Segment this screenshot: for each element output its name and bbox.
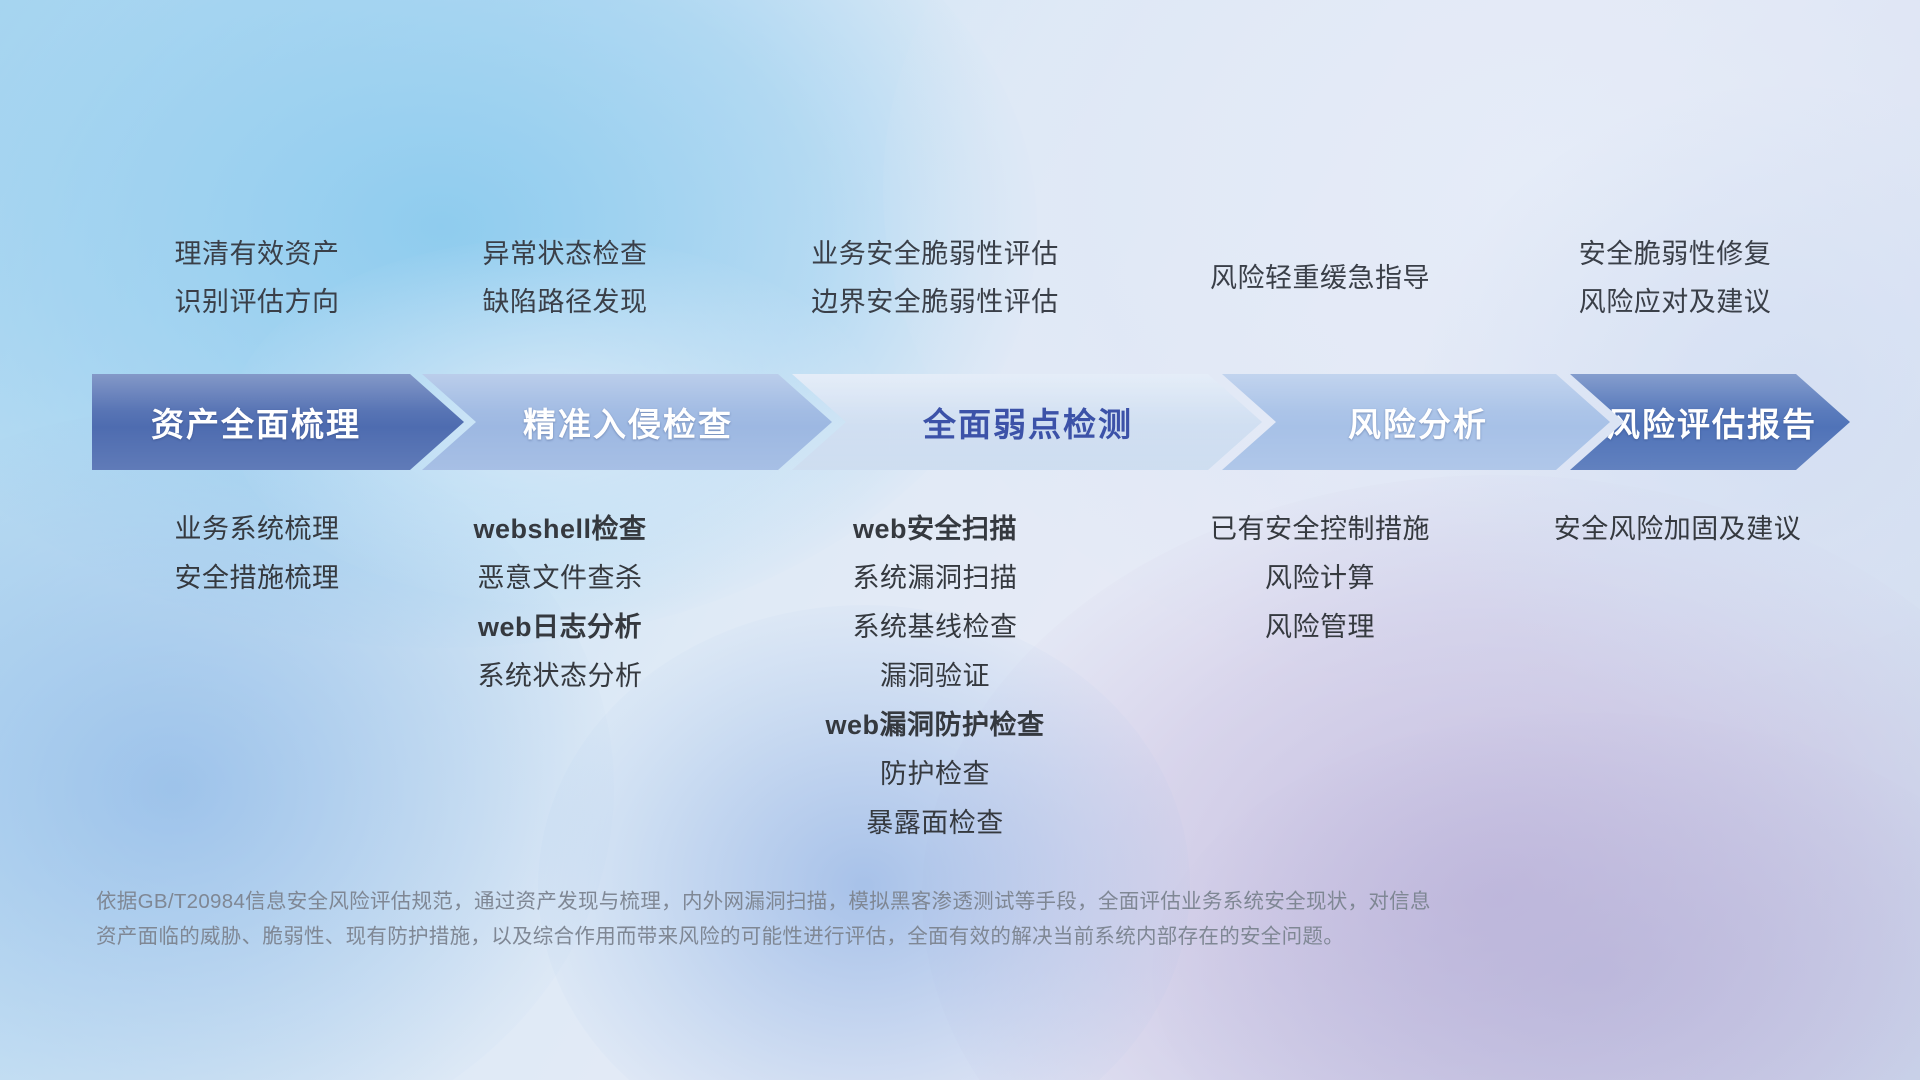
chevron-label: 精准入侵检查 bbox=[523, 398, 733, 446]
footnote-line: 资产面临的威胁、脆弱性、现有防护措施，以及综合作用而带来风险的可能性进行评估，全… bbox=[96, 919, 1656, 954]
stage-top-items-intrusion-check: 异常状态检查 缺陷路径发现 bbox=[410, 230, 720, 326]
bottom-item: web漏洞防护检查 bbox=[745, 701, 1125, 750]
top-item: 缺陷路径发现 bbox=[410, 278, 720, 326]
footnote: 依据GB/T20984信息安全风险评估规范，通过资产发现与梳理，内外网漏洞扫描，… bbox=[96, 884, 1656, 954]
top-item: 风险轻重缓急指导 bbox=[1140, 254, 1500, 302]
bottom-item: 已有安全控制措施 bbox=[1140, 505, 1500, 554]
bottom-item: 暴露面检查 bbox=[745, 799, 1125, 848]
bottom-item: 业务系统梳理 bbox=[92, 505, 422, 554]
stage-top-items-risk-analysis: 风险轻重缓急指导 bbox=[1140, 254, 1500, 302]
chevron-label: 资产全面梳理 bbox=[151, 398, 361, 446]
top-item: 安全脆弱性修复 bbox=[1510, 230, 1840, 278]
chevron-stage-asset-inventory[interactable]: 资产全面梳理 bbox=[92, 374, 464, 470]
bottom-item: 系统状态分析 bbox=[405, 652, 715, 701]
chevron-stage-risk-report[interactable]: 风险评估报告 bbox=[1570, 374, 1850, 470]
bottom-item: 风险管理 bbox=[1140, 603, 1500, 652]
stage-bottom-items-intrusion-check: webshell检查 恶意文件查杀 web日志分析 系统状态分析 bbox=[405, 505, 715, 701]
chevron-stage-intrusion-check[interactable]: 精准入侵检查 bbox=[422, 374, 832, 470]
process-chevron-band: 资产全面梳理 精准入侵检查 全面弱点检测 风险分析 风险评估报告 bbox=[92, 374, 1850, 470]
top-item: 业务安全脆弱性评估 bbox=[745, 230, 1125, 278]
chevron-label: 风险评估报告 bbox=[1607, 398, 1817, 446]
bottom-item: 安全风险加固及建议 bbox=[1505, 505, 1850, 554]
chevron-stage-risk-analysis[interactable]: 风险分析 bbox=[1222, 374, 1610, 470]
chevron-label: 风险分析 bbox=[1348, 398, 1488, 446]
bottom-item: 漏洞验证 bbox=[745, 652, 1125, 701]
stage-bottom-items-weakness-detection: web安全扫描 系统漏洞扫描 系统基线检查 漏洞验证 web漏洞防护检查 防护检… bbox=[745, 505, 1125, 848]
stage-top-items-weakness-detection: 业务安全脆弱性评估 边界安全脆弱性评估 bbox=[745, 230, 1125, 326]
chevron-stage-weakness-detection[interactable]: 全面弱点检测 bbox=[792, 374, 1262, 470]
bottom-item: 系统基线检查 bbox=[745, 603, 1125, 652]
bottom-item: 防护检查 bbox=[745, 750, 1125, 799]
bottom-item: webshell检查 bbox=[405, 505, 715, 554]
bottom-item: 恶意文件查杀 bbox=[405, 554, 715, 603]
bottom-item: web安全扫描 bbox=[745, 505, 1125, 554]
stage-bottom-items-risk-analysis: 已有安全控制措施 风险计算 风险管理 bbox=[1140, 505, 1500, 652]
top-item: 风险应对及建议 bbox=[1510, 278, 1840, 326]
bottom-item: 风险计算 bbox=[1140, 554, 1500, 603]
stage-top-items-risk-report: 安全脆弱性修复 风险应对及建议 bbox=[1510, 230, 1840, 326]
chevron-label: 全面弱点检测 bbox=[923, 398, 1133, 446]
bottom-item: 系统漏洞扫描 bbox=[745, 554, 1125, 603]
stage-top-items-asset-inventory: 理清有效资产 识别评估方向 bbox=[92, 230, 422, 326]
bottom-item: 安全措施梳理 bbox=[92, 554, 422, 603]
top-item: 边界安全脆弱性评估 bbox=[745, 278, 1125, 326]
process-diagram: 理清有效资产 识别评估方向 异常状态检查 缺陷路径发现 业务安全脆弱性评估 边界… bbox=[0, 0, 1920, 1080]
stage-bottom-items-asset-inventory: 业务系统梳理 安全措施梳理 bbox=[92, 505, 422, 603]
top-item: 异常状态检查 bbox=[410, 230, 720, 278]
bottom-item: web日志分析 bbox=[405, 603, 715, 652]
footnote-line: 依据GB/T20984信息安全风险评估规范，通过资产发现与梳理，内外网漏洞扫描，… bbox=[96, 884, 1656, 919]
top-item: 识别评估方向 bbox=[92, 278, 422, 326]
stage-bottom-items-risk-report: 安全风险加固及建议 bbox=[1505, 505, 1850, 554]
top-item: 理清有效资产 bbox=[92, 230, 422, 278]
